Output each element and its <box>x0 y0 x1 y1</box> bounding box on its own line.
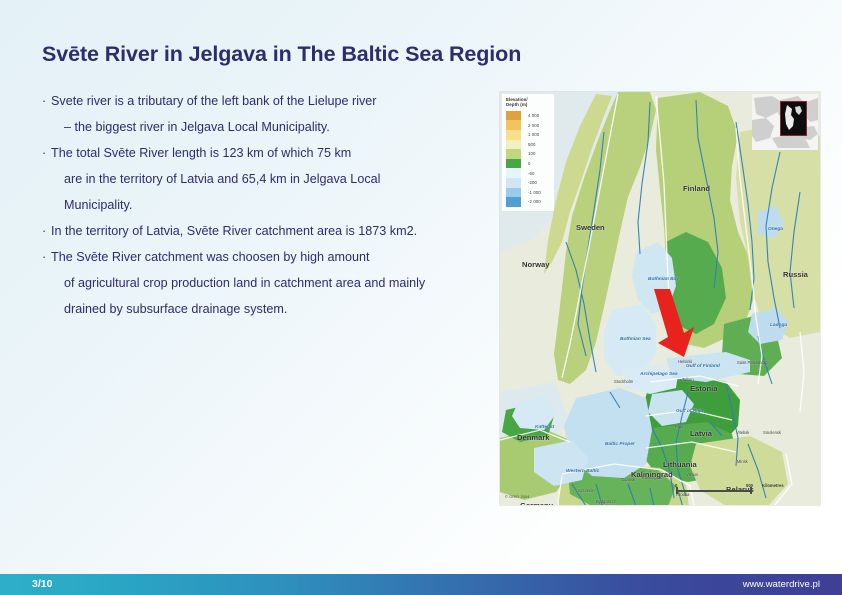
bullet-marker: · <box>42 88 51 114</box>
scale-bar-line <box>676 490 752 492</box>
legend-entry: -200 <box>506 178 552 188</box>
bullet-line: ·The total Svēte River length is 123 km … <box>42 140 492 166</box>
bullet-text: In the territory of Latvia, Svēte River … <box>51 224 417 238</box>
legend-label: 2 000 <box>528 123 539 128</box>
inset-locator-map <box>752 94 818 150</box>
legend-entry: -1 000 <box>506 188 552 198</box>
bullet-list: ·Svete river is a tributary of the left … <box>42 88 492 322</box>
legend-entry: 1 000 <box>506 130 552 140</box>
map-scale-bar: 0 500 Kilometres <box>676 484 796 496</box>
legend-entry: -2 000 <box>506 197 552 207</box>
bullet-text: of agricultural crop production land in … <box>64 276 425 290</box>
map-credit: © GRID 2004 <box>505 494 530 499</box>
scale-unit-label: Kilometres <box>762 483 784 488</box>
bullet-line: Municipality. <box>42 192 492 218</box>
legend-swatch <box>506 140 521 150</box>
bullet-text: – the biggest river in Jelgava Local Mun… <box>64 120 330 134</box>
bullet-line: ·In the territory of Latvia, Svēte River… <box>42 218 492 244</box>
legend-swatch <box>506 130 521 140</box>
bullet-text: are in the territory of Latvia and 65,4 … <box>64 172 380 186</box>
legend-entry: -50 <box>506 168 552 178</box>
website-url[interactable]: www.waterdrive.pl <box>743 574 820 595</box>
legend-label: 500 <box>528 142 535 147</box>
legend-swatch <box>506 197 521 207</box>
legend-label: -200 <box>528 180 537 185</box>
legend-label: -1 000 <box>528 190 541 195</box>
legend-label: 100 <box>528 151 535 156</box>
bullet-line: ·Svete river is a tributary of the left … <box>42 88 492 114</box>
legend-swatch <box>506 178 521 188</box>
legend-label: -50 <box>528 171 535 176</box>
bullet-line: are in the territory of Latvia and 65,4 … <box>42 166 492 192</box>
legend-entry: 2 000 <box>506 120 552 130</box>
legend-label: -2 000 <box>528 199 541 204</box>
legend-label: 0 <box>528 161 531 166</box>
legend-swatch <box>506 120 521 130</box>
bullet-line: ·The Svēte River catchment was choosen b… <box>42 244 492 270</box>
map-legend: Elevation/ Depth (m) 4 0002 0001 0005001… <box>502 94 554 211</box>
bullet-text: Municipality. <box>64 198 132 212</box>
bullet-marker: · <box>42 140 51 166</box>
legend-entry: 4 000 <box>506 111 552 121</box>
legend-title-line2: Depth (m) <box>506 102 552 107</box>
scale-start-label: 0 <box>675 483 677 488</box>
bullet-marker: · <box>42 244 51 270</box>
legend-swatch <box>506 188 521 198</box>
bullet-line: of agricultural crop production land in … <box>42 270 492 296</box>
legend-swatch <box>506 149 521 159</box>
bullet-text: drained by subsurface drainage system. <box>64 302 287 316</box>
page-number: 3/10 <box>32 574 52 595</box>
legend-swatch <box>506 159 521 169</box>
legend-label: 1 000 <box>528 132 539 137</box>
inset-highlight-box <box>780 101 807 136</box>
page-title: Svēte River in Jelgava in The Baltic Sea… <box>42 42 521 67</box>
inset-baltic-shape-svg <box>781 102 806 135</box>
bullet-text: The Svēte River catchment was choosen by… <box>51 250 370 264</box>
legend-swatch <box>506 111 521 121</box>
bullet-text: The total Svēte River length is 123 km o… <box>51 146 351 160</box>
legend-entry: 100 <box>506 149 552 159</box>
baltic-sea-region-map: Elevation/ Depth (m) 4 0002 0001 0005001… <box>500 92 820 505</box>
legend-label: 4 000 <box>528 113 539 118</box>
bullet-marker: · <box>42 218 51 244</box>
legend-entries: 4 0002 0001 0005001000-50-200-1 000-2 00… <box>506 111 552 207</box>
slide-canvas: Svēte River in Jelgava in The Baltic Sea… <box>0 0 842 595</box>
scale-end-label: 500 <box>746 483 753 488</box>
bullet-line: – the biggest river in Jelgava Local Mun… <box>42 114 492 140</box>
bullet-line: drained by subsurface drainage system. <box>42 296 492 322</box>
footer-bar: 3/10 www.waterdrive.pl <box>0 574 842 595</box>
legend-title: Elevation/ Depth (m) <box>506 97 552 108</box>
bullet-text: Svete river is a tributary of the left b… <box>51 94 377 108</box>
legend-entry: 500 <box>506 140 552 150</box>
legend-swatch <box>506 168 521 178</box>
legend-entry: 0 <box>506 159 552 169</box>
